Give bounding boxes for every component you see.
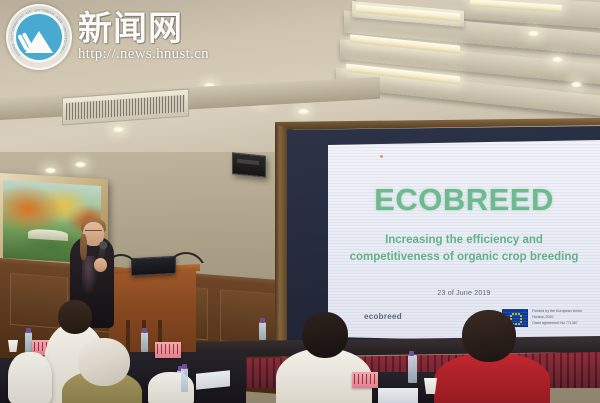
watermark: HUNAN UNIVERSITY OF SCIENCE AND TECHNOLO… xyxy=(6,4,209,70)
eu-funding-block: Funded by the European Union Horizon 202… xyxy=(502,309,582,327)
water-bottle xyxy=(25,332,32,354)
projection-screen: ECOBREED Increasing the efficiency and c… xyxy=(328,140,600,343)
slide-subtitle: Increasing the efficiency and competitiv… xyxy=(334,232,594,265)
screen-frame-left xyxy=(275,122,287,360)
slide-title: ECOBREED xyxy=(328,182,600,218)
wainscot-panel xyxy=(220,289,278,346)
paper-cup xyxy=(8,340,18,352)
downlight xyxy=(112,126,125,133)
downlight xyxy=(551,56,564,63)
downlight xyxy=(44,167,57,174)
site-name-cn: 新闻网 xyxy=(78,12,209,46)
glasses-icon xyxy=(85,230,102,234)
water-bottle xyxy=(259,322,266,340)
downlight xyxy=(74,161,87,168)
name-card xyxy=(352,372,378,388)
photo-canvas: ECOBREED Increasing the efficiency and c… xyxy=(0,0,600,403)
audience-member-head xyxy=(58,300,92,334)
slide-brand-mark: ecobreed xyxy=(364,312,402,321)
slide-subtitle-line2: competitiveness of organic crop breeding xyxy=(334,249,594,266)
projector-artifact xyxy=(380,155,383,158)
audience-member-head xyxy=(302,312,348,358)
name-card xyxy=(155,342,181,358)
paper-cup xyxy=(424,378,437,394)
slide-date: 23 of June 2019 xyxy=(328,290,600,297)
watermark-text: 新闻网 http://.news.hnust.cn xyxy=(78,12,209,62)
presenter-hair-side xyxy=(80,234,87,260)
downlight xyxy=(570,81,583,88)
chair xyxy=(8,352,52,403)
university-logo-icon: HUNAN UNIVERSITY OF SCIENCE AND TECHNOLO… xyxy=(6,4,72,70)
eu-funding-text: Funded by the European Union Horizon 202… xyxy=(532,309,582,326)
presenter-hand xyxy=(94,258,107,272)
site-url: http://.news.hnust.cn xyxy=(78,47,209,62)
downlight xyxy=(527,30,540,37)
logo-inner-disc xyxy=(16,14,62,60)
water-bottle xyxy=(408,355,417,383)
document xyxy=(378,388,418,403)
audience-member-head xyxy=(78,338,130,386)
audience-member-head xyxy=(462,310,516,362)
water-bottle xyxy=(141,332,148,352)
wall-speaker xyxy=(232,152,266,178)
water-bottle xyxy=(181,368,188,392)
eu-text-line3: Grant agreement No 771367 xyxy=(532,321,582,327)
downlight xyxy=(297,108,310,115)
slide-subtitle-line1: Increasing the efficiency and xyxy=(334,232,594,249)
